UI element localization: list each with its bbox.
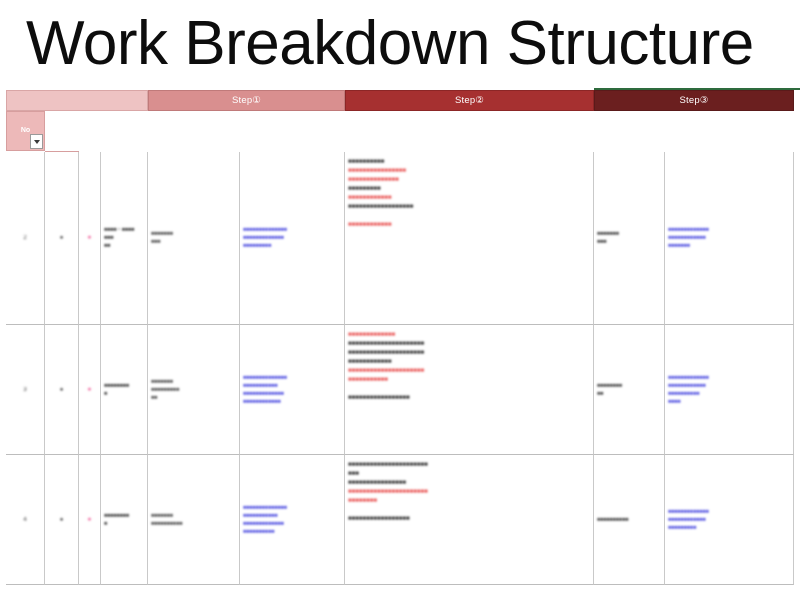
page-title: Work Breakdown Structure bbox=[26, 8, 774, 80]
cell-source-name: ■■■■■■■ ■■■■■■■■■■ bbox=[151, 512, 236, 528]
cell-source-location: ■■■■■■■■■■■■■■ ■■■■■■■■■■■ ■■■■■■■■■■■■■… bbox=[243, 504, 341, 536]
filter-dropdown-icon-no[interactable] bbox=[30, 134, 43, 149]
cell-output-name: ■■■■■■■■ ■■ bbox=[597, 382, 661, 398]
cell-task-name: ■■■■・■■■■ ■■■ ■■ bbox=[104, 226, 144, 250]
table-row[interactable]: ■■■■■■■■■■■■■ ■■■■■■■■■■■■ ■■■■■■■■■■ ■■… bbox=[665, 325, 794, 455]
cell-no: 4 bbox=[9, 516, 41, 524]
table-row[interactable]: ● bbox=[79, 152, 101, 325]
slide-bottom-margin bbox=[0, 590, 800, 600]
table-row[interactable]: ■■■■■■■■■■■■■ ■■■■■■■■■■■■ ■■■■■■■■■ bbox=[665, 455, 794, 585]
table-row[interactable]: ● bbox=[45, 455, 79, 585]
table-row[interactable]: ● bbox=[79, 325, 101, 455]
spreadsheet-table: Step① Step② Step③ No Net 重要 タスク名称 元資料 bbox=[6, 88, 794, 585]
cell-output-location: ■■■■■■■■■■■■■ ■■■■■■■■■■■■ ■■■■■■■■■ bbox=[668, 508, 790, 532]
cell-kubun: ● bbox=[82, 516, 97, 524]
table-row[interactable]: ● bbox=[45, 325, 79, 455]
cell-source-location: ■■■■■■■■■■■■■■ ■■■■■■■■■■■ ■■■■■■■■■■■■■… bbox=[243, 374, 341, 406]
table-row[interactable]: ■■■■■■■■■■■■■■■■■■■■■■■■■■■■■■■■■■■■■■■■… bbox=[345, 152, 594, 325]
cell-task-name: ■■■■■■■■ ■ bbox=[104, 382, 144, 398]
table-row[interactable]: ■■■■■■■■■■■■■■■■■■■■■■■■■■■■■■■■■■■■■■■■… bbox=[345, 455, 594, 585]
group-header-step1: Step① bbox=[148, 90, 345, 111]
cell-output-location: ■■■■■■■■■■■■■ ■■■■■■■■■■■■ ■■■■■■■■■■ ■■… bbox=[668, 374, 790, 406]
cell-task-name: ■■■■■■■■ ■ bbox=[104, 512, 144, 528]
table-row[interactable]: ■■■■■■■■■■■■■ ■■■■■■■■■■■■ ■■■■■■■ bbox=[665, 152, 794, 325]
cell-source-name: ■■■■■■■ ■■■ bbox=[151, 230, 236, 246]
table-row[interactable]: ■■■■■■■■ ■■ bbox=[594, 325, 665, 455]
table-row[interactable]: ■■■■■■■■ ■ bbox=[101, 325, 148, 455]
cell-output-name: ■■■■■■■■■■ bbox=[597, 516, 661, 524]
column-header-no[interactable]: No bbox=[6, 111, 45, 151]
table-row[interactable]: ■■■■■■■■■■■■■■ ■■■■■■■■■■■■■ ■■■■■■■■■ bbox=[240, 152, 345, 325]
table-row[interactable]: ■■■■■■■■ ■ bbox=[101, 455, 148, 585]
cell-no: 3 bbox=[9, 386, 41, 394]
group-header-blank bbox=[6, 90, 148, 111]
group-header-step2: Step② bbox=[345, 90, 594, 111]
cell-kubun: ● bbox=[82, 386, 97, 394]
table-row[interactable]: ■■■■・■■■■ ■■■ ■■ bbox=[101, 152, 148, 325]
table-row[interactable]: 3 bbox=[6, 325, 45, 455]
table-row[interactable]: ● bbox=[79, 455, 101, 585]
cell-no: 2 bbox=[9, 234, 41, 242]
table-row[interactable]: ■■■■■■■■■■■■■■ ■■■■■■■■■■■ ■■■■■■■■■■■■■… bbox=[240, 325, 345, 455]
table-row[interactable]: ● bbox=[45, 152, 79, 325]
cell-kubun: ● bbox=[82, 234, 97, 242]
table-row[interactable]: 4 bbox=[6, 455, 45, 585]
slide: Work Breakdown Structure Step① Step② Ste… bbox=[0, 0, 800, 600]
table-row[interactable]: ■■■■■■■ ■■■ bbox=[148, 152, 240, 325]
table-row[interactable]: ■■■■■■■■■■■■■■■■■■■■■■■■■■■■■■■■■■■■■■■■… bbox=[345, 325, 594, 455]
table-row[interactable]: ■■■■■■■■■■ bbox=[594, 455, 665, 585]
cell-net: ● bbox=[48, 386, 75, 394]
cell-output-location: ■■■■■■■■■■■■■ ■■■■■■■■■■■■ ■■■■■■■ bbox=[668, 226, 790, 250]
cell-source-location: ■■■■■■■■■■■■■■ ■■■■■■■■■■■■■ ■■■■■■■■■ bbox=[243, 226, 341, 250]
group-header-step3: Step③ bbox=[594, 90, 794, 111]
table-row[interactable]: 2 bbox=[6, 152, 45, 325]
table-row[interactable]: ■■■■■■■ ■■■■■■■■■ ■■ bbox=[148, 325, 240, 455]
cell-net: ● bbox=[48, 234, 75, 242]
cell-net: ● bbox=[48, 516, 75, 524]
table-row[interactable]: ■■■■■■■■■■■■■■ ■■■■■■■■■■■ ■■■■■■■■■■■■■… bbox=[240, 455, 345, 585]
cell-procedure: ■■■■■■■■■■■■■■■■■■■■■■■■■■■■■■■■■■■■■■■■… bbox=[348, 331, 590, 403]
table-row[interactable]: ■■■■■■■ ■■■ bbox=[594, 152, 665, 325]
column-header-no-label: No bbox=[21, 127, 30, 135]
table-row[interactable]: ■■■■■■■ ■■■■■■■■■■ bbox=[148, 455, 240, 585]
cell-procedure: ■■■■■■■■■■■■■■■■■■■■■■■■■■■■■■■■■■■■■■■■… bbox=[348, 461, 590, 524]
cell-output-name: ■■■■■■■ ■■■ bbox=[597, 230, 661, 246]
cell-source-name: ■■■■■■■ ■■■■■■■■■ ■■ bbox=[151, 378, 236, 402]
cell-procedure: ■■■■■■■■■■■■■■■■■■■■■■■■■■■■■■■■■■■■■■■■… bbox=[348, 158, 590, 230]
